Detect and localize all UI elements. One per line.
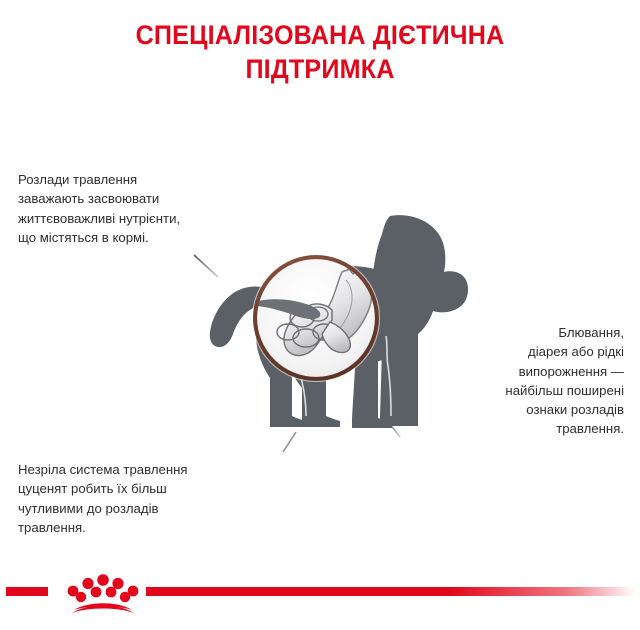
page-title-line-2: ПІДТРИМКА	[22, 52, 617, 86]
brand-footer-bar	[0, 558, 640, 630]
page-title: СПЕЦІАЛІЗОВАНА ДІЄТИЧНА ПІДТРИМКА	[0, 18, 640, 86]
footer-bar-right	[146, 587, 636, 596]
callout-right: Блювання, діарея або рідкі випорожнення …	[424, 323, 624, 439]
callout-bottom-left: Незріла система травлення цуценят робить…	[18, 460, 268, 537]
footer-bar-left	[6, 587, 48, 596]
royal-canin-crown-icon	[68, 574, 139, 613]
page-title-line-1: СПЕЦІАЛІЗОВАНА ДІЄТИЧНА	[22, 18, 617, 52]
callout-top-left: Розлади травлення заважають засвоювати ж…	[18, 170, 258, 247]
